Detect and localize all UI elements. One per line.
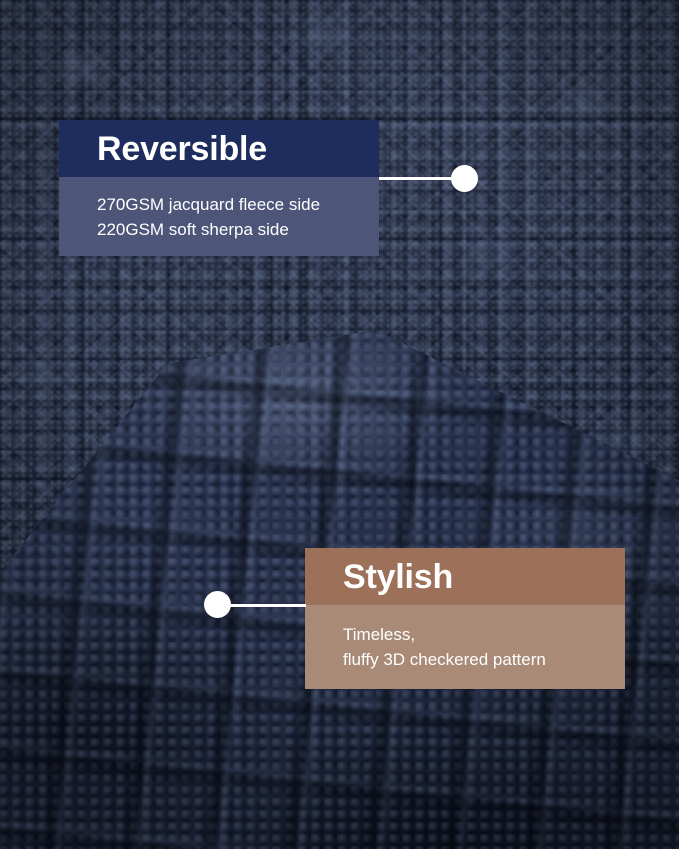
callout-reversible-title: Reversible (97, 132, 267, 166)
product-feature-image: Reversible 270GSM jacquard fleece side 2… (0, 0, 679, 849)
callout-reversible-line-2: 220GSM soft sherpa side (97, 217, 379, 242)
callout-reversible-header: Reversible (59, 120, 379, 177)
callout-reversible-body: 270GSM jacquard fleece side 220GSM soft … (59, 177, 379, 256)
callout-stylish-title: Stylish (343, 560, 453, 594)
callout-stylish-body: Timeless, fluffy 3D checkered pattern (305, 605, 625, 689)
callout-reversible-leader-line (379, 177, 457, 180)
callout-reversible-marker-dot (451, 165, 478, 192)
callout-stylish-line-1: Timeless, (343, 622, 625, 647)
callout-reversible: Reversible 270GSM jacquard fleece side 2… (59, 120, 379, 256)
callout-reversible-line-1: 270GSM jacquard fleece side (97, 192, 379, 217)
callout-stylish-line-2: fluffy 3D checkered pattern (343, 647, 625, 672)
callout-stylish-header: Stylish (305, 548, 625, 605)
callout-stylish-marker-dot (204, 591, 231, 618)
callout-stylish-leader-line (224, 604, 306, 607)
callout-stylish: Stylish Timeless, fluffy 3D checkered pa… (305, 548, 625, 689)
